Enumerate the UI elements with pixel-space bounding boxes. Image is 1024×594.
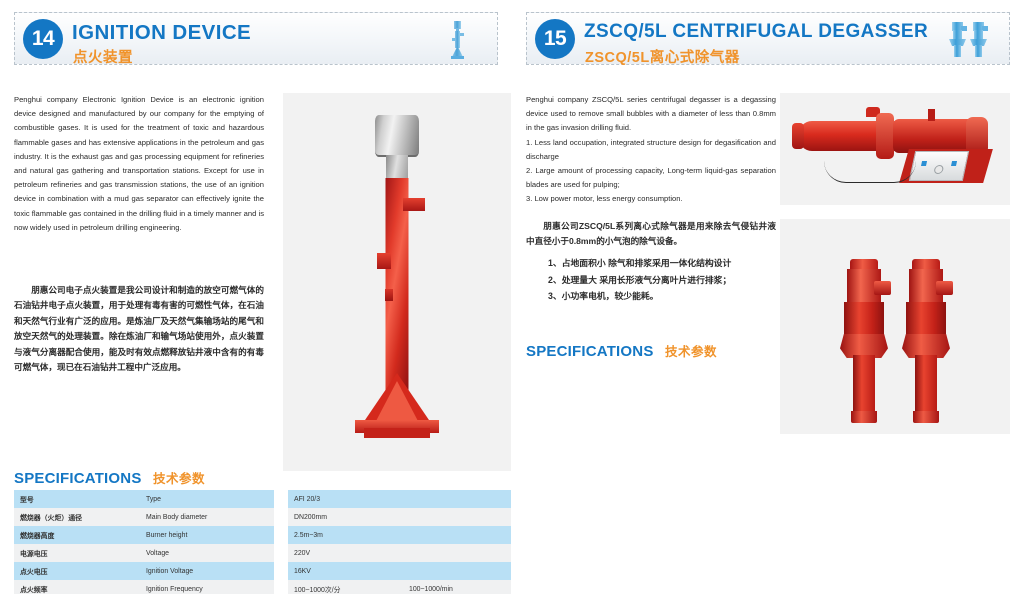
cell-value: 16KV	[288, 562, 403, 580]
specifications-heading-left: SPECIFICATIONS 技术参数	[14, 468, 205, 488]
cell-value-alt	[403, 544, 512, 562]
cell-cn: 电源电压	[14, 544, 140, 562]
section-header-banner-right: 15 ZSCQ/5L CENTRIFUGAL DEGASSER ZSCQ/5L离…	[526, 12, 1010, 65]
description-cn-right: 朋惠公司ZSCQ/5L系列离心式除气器是用来除去气侵钻井液中直径小于0.8mm的…	[526, 219, 776, 250]
section-header-banner-left: 14 IGNITION DEVICE 点火装置	[14, 12, 498, 65]
panel-ignition-device: 14 IGNITION DEVICE 点火装置	[0, 0, 512, 594]
cell-value-alt	[403, 508, 512, 526]
feature-en-3: 3. Low power motor, less energy consumpt…	[526, 192, 776, 206]
intro-paragraph-en: Penghui company ZSCQ/5L series centrifug…	[526, 93, 776, 136]
section-number-badge-left: 14	[23, 19, 63, 59]
cell-gap	[274, 580, 288, 594]
degasser-horizontal-photo	[780, 93, 1010, 205]
cell-cn: 点火频率	[14, 580, 140, 594]
feature-cn-2: 2、处理量大 采用长形液气分离叶片进行排浆；	[548, 272, 776, 289]
cell-value: DN200mm	[288, 508, 403, 526]
table-body-ignition: 型号 Type AFI 20/3 燃烧器（火炬）通径 Main Body dia…	[14, 490, 512, 594]
table-row: 燃烧器（火炬）通径 Main Body diameter DN200mm	[14, 508, 512, 526]
section-number-badge-right: 15	[535, 19, 575, 59]
catalog-page: 14 IGNITION DEVICE 点火装置	[0, 0, 1024, 594]
ignition-device-photo	[283, 93, 511, 471]
cell-value: 220V	[288, 544, 403, 562]
cell-gap	[274, 526, 288, 544]
cell-value-alt	[403, 490, 512, 508]
degasser-vertical-pair-photo	[780, 219, 1010, 434]
cell-gap	[274, 490, 288, 508]
intro-paragraph-cn: 朋惠公司ZSCQ/5L系列离心式除气器是用来除去气侵钻井液中直径小于0.8mm的…	[526, 219, 776, 250]
feature-cn-3: 3、小功率电机，较少能耗。	[548, 288, 776, 305]
cell-en: Type	[140, 490, 274, 508]
cell-cn: 型号	[14, 490, 140, 508]
table-row: 电源电压 Voltage 220V	[14, 544, 512, 562]
cell-gap	[274, 562, 288, 580]
table-row: 点火频率 Ignition Frequency 100~1000次/分 100~…	[14, 580, 512, 594]
feature-cn-1: 1、占地面积小 除气和排浆采用一体化结构设计	[548, 255, 776, 272]
table-row: 点火电压 Ignition Voltage 16KV	[14, 562, 512, 580]
cell-gap	[274, 544, 288, 562]
page-title-en-left: IGNITION DEVICE	[72, 21, 251, 45]
cell-cn: 燃烧器（火炬）通径	[14, 508, 140, 526]
features-cn-list: 1、占地面积小 除气和排浆采用一体化结构设计 2、处理量大 采用长形液气分离叶片…	[526, 255, 776, 305]
description-en-left: Penghui company Electronic Ignition Devi…	[14, 93, 264, 235]
page-title-cn-right: ZSCQ/5L离心式除气器	[585, 46, 740, 67]
cell-en: Ignition Voltage	[140, 562, 274, 580]
description-cn-left: 朋惠公司电子点火装置是我公司设计和制造的放空可燃气体的石油钻井电子点火装置，用于…	[14, 283, 264, 375]
feature-en-1: 1. Less land occupation, integrated stru…	[526, 136, 776, 164]
cell-gap	[274, 508, 288, 526]
specifications-heading-right: SPECIFICATIONS 技术参数	[526, 341, 717, 361]
cell-value: AFI 20/3	[288, 490, 403, 508]
page-title-cn-left: 点火装置	[73, 46, 133, 67]
cell-en: Ignition Frequency	[140, 580, 274, 594]
panel-centrifugal-degasser: 15 ZSCQ/5L CENTRIFUGAL DEGASSER ZSCQ/5L离…	[512, 0, 1024, 594]
cell-value: 2.5m~3m	[288, 526, 403, 544]
table-row: 型号 Type AFI 20/3	[14, 490, 512, 508]
cell-cn: 点火电压	[14, 562, 140, 580]
feature-en-2: 2. Large amount of processing capacity, …	[526, 164, 776, 192]
description-en-right: Penghui company ZSCQ/5L series centrifug…	[526, 93, 776, 207]
ignition-device-icon	[429, 16, 485, 63]
cell-en: Main Body diameter	[140, 508, 274, 526]
page-title-en-right: ZSCQ/5L CENTRIFUGAL DEGASSER	[584, 21, 928, 43]
cell-cn: 燃烧器高度	[14, 526, 140, 544]
table-row: 燃烧器高度 Burner height 2.5m~3m	[14, 526, 512, 544]
cell-value-alt	[403, 526, 512, 544]
cell-en: Voltage	[140, 544, 274, 562]
cell-value: 100~1000次/分	[288, 580, 403, 594]
cell-en: Burner height	[140, 526, 274, 544]
cell-value-alt	[403, 562, 512, 580]
cell-value-alt: 100~1000/min	[403, 580, 512, 594]
specifications-table-ignition: 型号 Type AFI 20/3 燃烧器（火炬）通径 Main Body dia…	[14, 490, 512, 594]
centrifugal-degasser-icon	[941, 16, 997, 63]
